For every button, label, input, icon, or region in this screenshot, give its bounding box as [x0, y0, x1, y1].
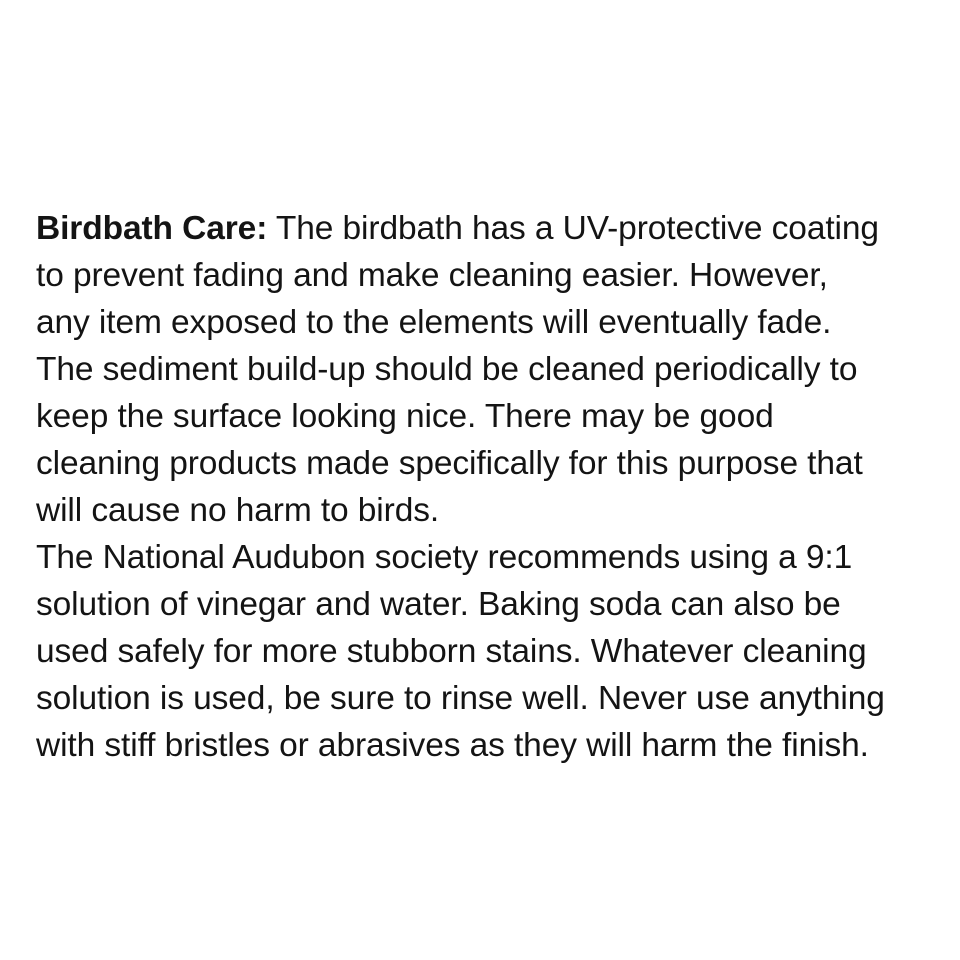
text-line-1: Birdbath Care: The birdbath has a UV-pro…: [36, 205, 942, 252]
text-line-5: keep the surface looking nice. There may…: [36, 393, 942, 440]
text-line-4: The sediment build-up should be cleaned …: [36, 346, 942, 393]
birdbath-care-text-block: Birdbath Care: The birdbath has a UV-pro…: [36, 205, 942, 769]
birdbath-care-label: Birdbath Care:: [36, 210, 267, 247]
text-line-3: any item exposed to the elements will ev…: [36, 299, 942, 346]
text-line-2: to prevent fading and make cleaning easi…: [36, 252, 942, 299]
text-line-7: will cause no harm to birds.: [36, 487, 942, 534]
text-line-12: with stiff bristles or abrasives as they…: [36, 722, 942, 769]
text-line-10: used safely for more stubborn stains. Wh…: [36, 628, 942, 675]
text-line-6: cleaning products made specifically for …: [36, 440, 942, 487]
text-line-9: solution of vinegar and water. Baking so…: [36, 581, 942, 628]
document-page: Birdbath Care: The birdbath has a UV-pro…: [0, 0, 960, 960]
text-line-8: The National Audubon society recommends …: [36, 534, 942, 581]
text-line-1-rest: The birdbath has a UV-protective coating: [267, 210, 879, 247]
text-line-11: solution is used, be sure to rinse well.…: [36, 675, 942, 722]
